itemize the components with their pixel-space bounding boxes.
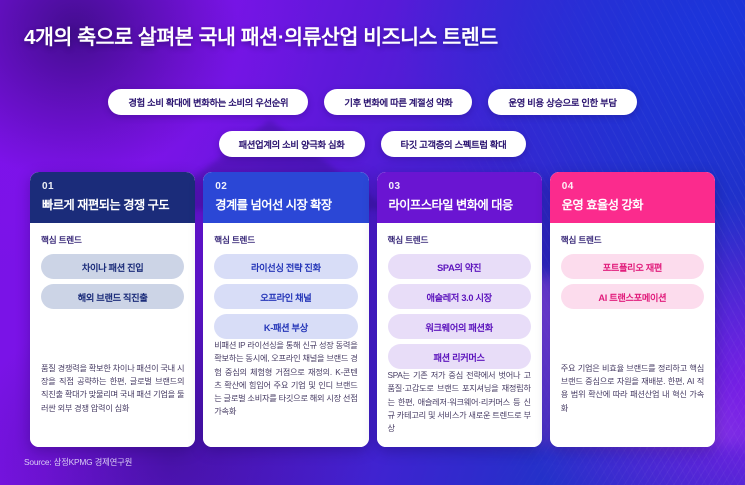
card-description: 주요 기업은 비효율 브랜드를 정리하고 핵심 브랜드 중심으로 자원을 재배분… [561,362,704,437]
card-body-01: 핵심 트렌드 차이나 패션 진입 해외 브랜드 직진출 품질 경쟁력을 확보한 … [30,223,195,447]
key-trend-label: 핵심 트렌드 [388,234,531,246]
trend-card-01: 01 빠르게 재편되는 경쟁 구도 핵심 트렌드 차이나 패션 진입 해외 브랜… [30,172,195,447]
trend-pill: 포트폴리오 재편 [561,254,704,279]
trend-card-04: 04 운영 효율성 강화 핵심 트렌드 포트폴리오 재편 AI 트랜스포메이션 … [550,172,715,447]
card-body-03: 핵심 트렌드 SPA의 약진 애슬레저 3.0 시장 워크웨어의 패션화 패션 … [377,223,542,447]
card-number: 04 [562,181,703,192]
trend-pill: 해외 브랜드 직진출 [41,284,184,309]
trend-pill: 오프라인 채널 [214,284,357,309]
card-title: 라이프스타일 변화에 대응 [389,195,530,213]
trend-card-grid: 01 빠르게 재편되는 경쟁 구도 핵심 트렌드 차이나 패션 진입 해외 브랜… [30,172,715,447]
card-header-01: 01 빠르게 재편되는 경쟁 구도 [30,172,195,223]
keyword-row-secondary: 패션업계의 소비 양극화 심화 타깃 고객층의 스펙트럼 확대 [0,131,745,157]
card-header-03: 03 라이프스타일 변화에 대응 [377,172,542,223]
trend-pill: SPA의 약진 [388,254,531,279]
trend-pill: K-패션 부상 [214,314,357,339]
card-header-02: 02 경계를 넘어선 시장 확장 [203,172,368,223]
card-number: 01 [42,181,183,192]
trend-pill-list: SPA의 약진 애슬레저 3.0 시장 워크웨어의 패션화 패션 리커머스 [388,254,531,369]
keyword-pill: 경험 소비 확대에 변화하는 소비의 우선순위 [108,89,308,115]
card-number: 03 [389,181,530,192]
infographic-canvas: 4개의 축으로 살펴본 국내 패션·의류산업 비즈니스 트렌드 경험 소비 확대… [0,0,745,485]
card-title: 운영 효율성 강화 [562,195,703,213]
key-trend-label: 핵심 트렌드 [214,234,357,246]
trend-card-03: 03 라이프스타일 변화에 대응 핵심 트렌드 SPA의 약진 애슬레저 3.0… [377,172,542,447]
keyword-pill: 기후 변화에 따른 계절성 약화 [324,89,472,115]
trend-pill: AI 트랜스포메이션 [561,284,704,309]
card-description: SPA는 기존 저가 중심 전략에서 벗어나 고품질·고감도로 브랜드 포지셔닝… [388,369,531,447]
trend-pill: 워크웨어의 패션화 [388,314,531,339]
trend-pill: 패션 리커머스 [388,344,531,369]
keyword-pill: 타깃 고객층의 스펙트럼 확대 [381,131,527,157]
trend-pill: 라이선싱 전략 진화 [214,254,357,279]
trend-pill-list: 포트폴리오 재편 AI 트랜스포메이션 [561,254,704,309]
card-body-04: 핵심 트렌드 포트폴리오 재편 AI 트랜스포메이션 주요 기업은 비효율 브랜… [550,223,715,447]
keyword-row-primary: 경험 소비 확대에 변화하는 소비의 우선순위 기후 변화에 따른 계절성 약화… [0,89,745,115]
trend-pill: 애슬레저 3.0 시장 [388,284,531,309]
trend-pill: 차이나 패션 진입 [41,254,184,279]
key-trend-label: 핵심 트렌드 [41,234,184,246]
trend-pill-list: 라이선싱 전략 진화 오프라인 채널 K-패션 부상 [214,254,357,339]
card-body-02: 핵심 트렌드 라이선싱 전략 진화 오프라인 채널 K-패션 부상 비패션 IP… [203,223,368,447]
card-description: 비패션 IP 라이선싱을 통해 신규 성장 동력을 확보하는 동시에, 오프라인… [214,339,357,441]
keyword-pill: 운영 비용 상승으로 인한 부담 [488,89,636,115]
trend-card-02: 02 경계를 넘어선 시장 확장 핵심 트렌드 라이선싱 전략 진화 오프라인 … [203,172,368,447]
card-description: 품질 경쟁력을 확보한 차이나 패션이 국내 시장을 직접 공략하는 한편, 글… [41,362,184,437]
card-title: 빠르게 재편되는 경쟁 구도 [42,195,183,213]
card-number: 02 [215,181,356,192]
source-citation: Source: 삼정KPMG 경제연구원 [24,456,132,468]
keyword-pill: 패션업계의 소비 양극화 심화 [219,131,365,157]
key-trend-label: 핵심 트렌드 [561,234,704,246]
trend-pill-list: 차이나 패션 진입 해외 브랜드 직진출 [41,254,184,309]
card-title: 경계를 넘어선 시장 확장 [215,195,356,213]
page-title: 4개의 축으로 살펴본 국내 패션·의류산업 비즈니스 트렌드 [24,20,498,50]
card-header-04: 04 운영 효율성 강화 [550,172,715,223]
